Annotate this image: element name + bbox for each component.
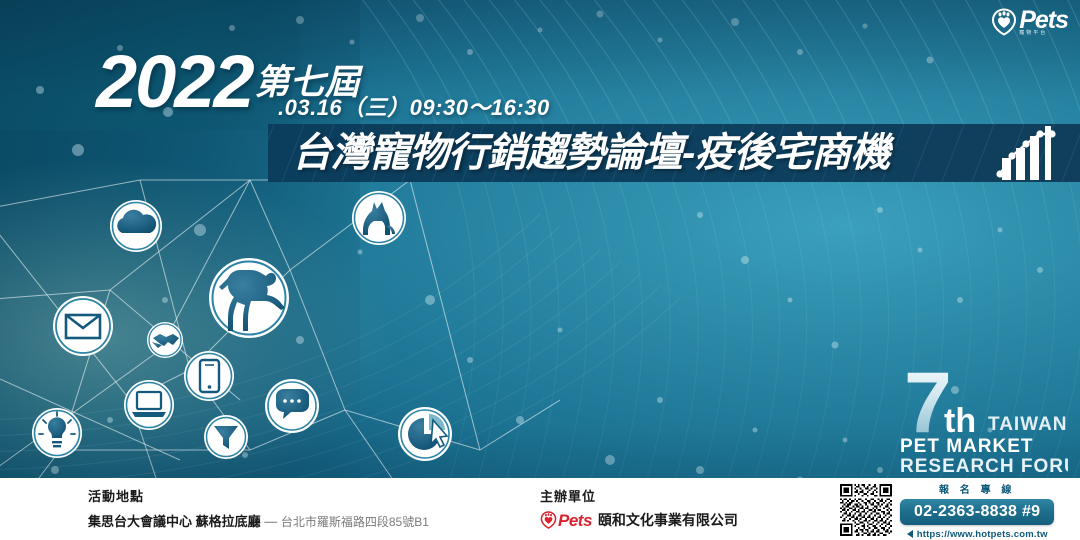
forum-edition-mark: 7 th TAIWAN PET MARKET RESEARCH FORUM — [892, 356, 1068, 476]
contact-details: 報 名 專 線 02-2363-8838 #9 https://www.hotp… — [900, 481, 1054, 540]
organizer-logo-word: Pets — [558, 512, 592, 529]
qr-code[interactable] — [840, 484, 892, 536]
venue-address: 台北市羅斯福路四段85號B1 — [281, 515, 429, 529]
forum-line3: RESEARCH FORUM — [900, 456, 1068, 476]
organizer-heading: 主辦單位 — [540, 486, 738, 505]
handshake-icon — [147, 322, 183, 358]
venue-name: 集思台大會議中心 蘇格拉底廳 — [88, 514, 261, 529]
contact-block: 報 名 專 線 02-2363-8838 #9 https://www.hotp… — [840, 481, 1080, 539]
paw-heart-badge-red-icon — [540, 511, 557, 529]
brand-logo-subtitle: 寵物平台 — [1019, 29, 1047, 36]
venue-line: 集思台大會議中心 蘇格拉底廳 — 台北市羅斯福路四段85號B1 — [88, 511, 429, 530]
envelope-icon — [53, 296, 113, 356]
footer-bar: 活動地點 集思台大會議中心 蘇格拉底廳 — 台北市羅斯福路四段85號B1 主辦單… — [0, 478, 1080, 540]
pie-cursor-icon — [398, 407, 452, 461]
organizer-logo: Pets — [540, 511, 592, 529]
event-poster: Pets 寵物平台 2022 第七屆 .03.16（三）09:30～16:30 — [0, 0, 1080, 540]
bar-chart-icon — [990, 112, 1062, 184]
hotline-phone-button[interactable]: 02-2363-8838 #9 — [900, 499, 1054, 525]
forum-ordinal: th — [944, 402, 976, 440]
page-title: 台灣寵物行銷趨勢論壇-疫後宅商機 — [292, 126, 889, 180]
venue-block: 活動地點 集思台大會議中心 蘇格拉底廳 — 台北市羅斯福路四段85號B1 — [88, 486, 429, 530]
cat-icon — [352, 191, 406, 245]
organizer-block: 主辦單位 Pets 頤和文化事業有限公司 — [540, 486, 738, 530]
funnel-icon — [204, 415, 248, 459]
network-icon-cluster — [0, 180, 520, 480]
venue-heading: 活動地點 — [88, 486, 429, 505]
play-triangle-icon — [907, 530, 913, 538]
venue-dash: — — [264, 514, 277, 529]
brand-logo[interactable]: Pets 寵物平台 — [991, 8, 1068, 36]
cloud-icon — [110, 200, 162, 252]
hotline-label: 報 名 專 線 — [939, 481, 1015, 496]
event-year: 2022 — [96, 48, 253, 116]
website-row[interactable]: https://www.hotpets.com.tw — [907, 529, 1048, 540]
laptop-icon — [124, 380, 174, 430]
event-datetime: .03.16（三）09:30～16:30 — [278, 90, 550, 122]
organizer-row: Pets 頤和文化事業有限公司 — [540, 510, 738, 530]
organizer-name: 頤和文化事業有限公司 — [598, 510, 738, 530]
dog-icon — [209, 258, 289, 338]
paw-heart-badge-icon — [991, 8, 1017, 36]
smartphone-icon — [184, 351, 234, 401]
forum-country: TAIWAN — [988, 414, 1068, 435]
lightbulb-icon — [32, 408, 82, 458]
chat-bubble-icon — [265, 379, 319, 433]
forum-line2: PET MARKET — [900, 436, 1034, 457]
website-url[interactable]: https://www.hotpets.com.tw — [917, 529, 1048, 540]
